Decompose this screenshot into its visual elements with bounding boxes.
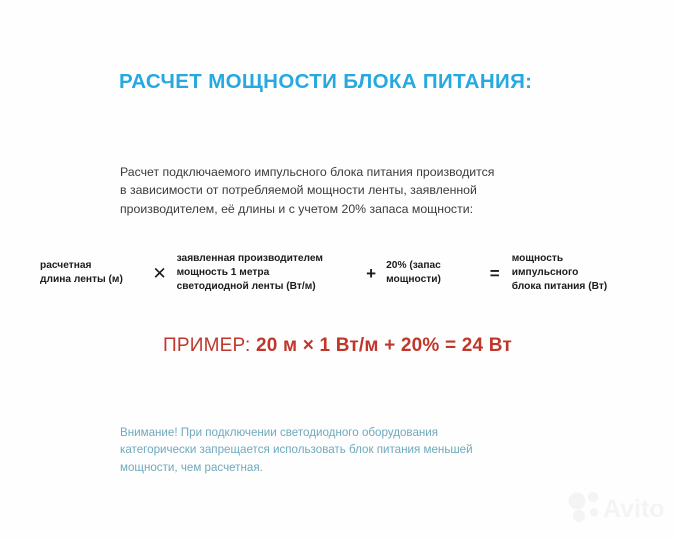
warning-note: Внимание! При подключении светодиодного … [120,424,560,476]
formula-term-power-per-meter-line-1: заявленная производителем [177,252,357,266]
warning-line-3: мощности, чем расчетная. [120,459,560,476]
document-page: РАСЧЕТ МОЩНОСТИ БЛОКА ПИТАНИЯ: Расчет по… [0,0,675,540]
formula-term-tape-length-line-1: расчетная [40,259,143,273]
formula-term-psu-power-line-3: блока питания (Вт) [512,280,640,294]
warning-line-1: Внимание! При подключении светодиодного … [120,424,560,441]
example-label: ПРИМЕР: [163,335,256,356]
power-formula: расчетная длина ленты (м) ✕ заявленная п… [40,252,640,294]
warning-line-2: категорически запрещается использовать б… [120,441,560,458]
formula-term-tape-length: расчетная длина ленты (м) [40,259,143,287]
formula-term-psu-power-line-2: импульсного [512,266,640,280]
equals-icon: = [478,265,512,282]
formula-term-reserve-line-2: мощности) [386,273,478,287]
intro-line-2: в зависимости от потребляемой мощности л… [120,181,570,199]
example-value: 20 м × 1 Вт/м + 20% = 24 Вт [256,335,512,356]
formula-term-power-per-meter-line-3: светодиодной ленты (Вт/м) [177,280,357,294]
formula-term-tape-length-line-2: длина ленты (м) [40,273,143,287]
avito-watermark-logo: Avito [563,484,667,528]
example-calculation: ПРИМЕР: 20 м × 1 Вт/м + 20% = 24 Вт [0,333,675,358]
formula-term-power-per-meter-line-2: мощность 1 метра [177,266,357,280]
formula-term-power-per-meter: заявленная производителем мощность 1 мет… [177,252,357,294]
plus-icon: + [356,265,386,282]
formula-term-reserve: 20% (запас мощности) [386,259,478,287]
intro-line-3: производителем, её длины и с учетом 20% … [120,200,570,218]
formula-term-reserve-line-1: 20% (запас [386,259,478,273]
multiply-icon: ✕ [143,265,177,282]
intro-paragraph: Расчет подключаемого импульсного блока п… [120,163,570,218]
page-title: РАСЧЕТ МОЩНОСТИ БЛОКА ПИТАНИЯ: [119,70,532,95]
avito-watermark-text: Avito [603,495,665,523]
formula-term-psu-power: мощность импульсного блока питания (Вт) [512,252,640,294]
intro-line-1: Расчет подключаемого импульсного блока п… [120,163,570,181]
formula-term-psu-power-line-1: мощность [512,252,640,266]
